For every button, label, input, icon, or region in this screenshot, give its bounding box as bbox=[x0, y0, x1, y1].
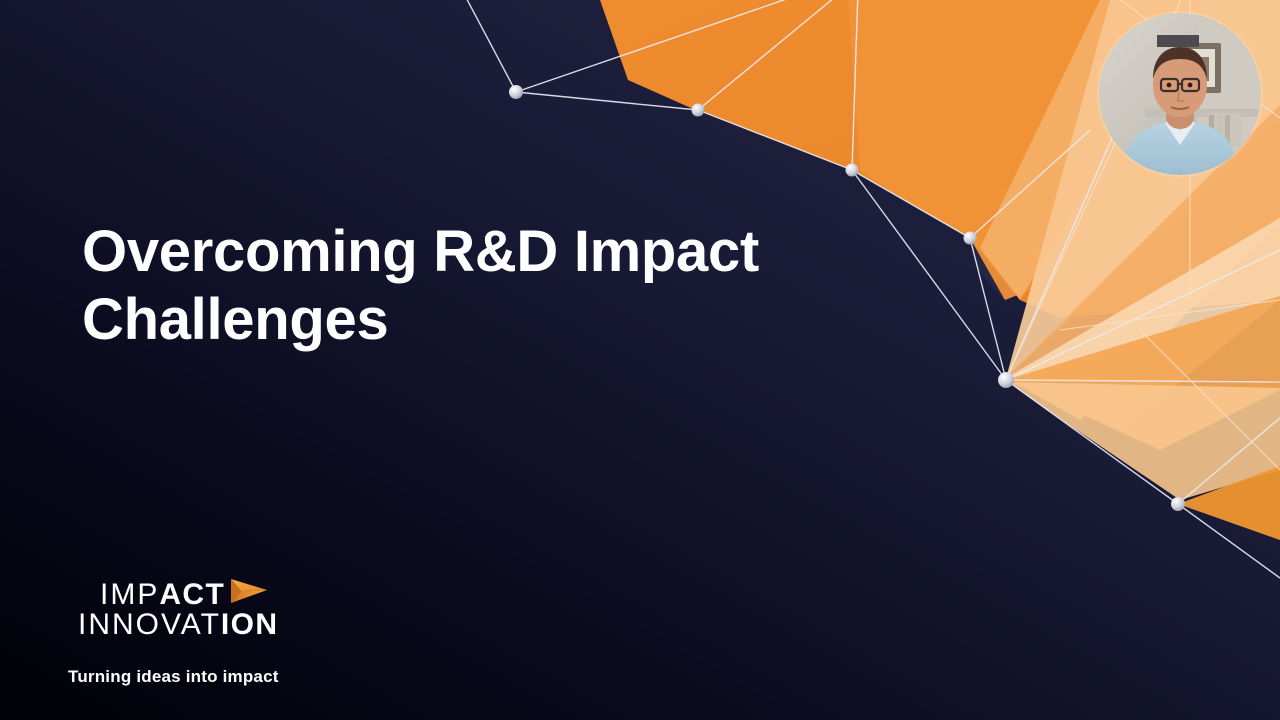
logo-line-1: IMPACT bbox=[68, 578, 428, 612]
title-line-1: Overcoming R&D Impact bbox=[82, 218, 882, 286]
network-node bbox=[998, 372, 1014, 388]
logo-innovation-text: INNOVATION bbox=[78, 608, 278, 641]
title-line-2: Challenges bbox=[82, 286, 882, 354]
webcam-dark-shelf-object bbox=[1157, 35, 1199, 47]
webcam-person-eye-left bbox=[1167, 83, 1172, 88]
webcam-shelf bbox=[1145, 109, 1261, 117]
logo-innovat-thin: INNOVAT bbox=[78, 608, 221, 641]
network-node bbox=[964, 232, 977, 245]
play-arrow-icon bbox=[229, 577, 269, 610]
webcam-person-eye-right bbox=[1188, 83, 1193, 88]
logo-ion-bold: ION bbox=[221, 608, 279, 641]
slide-title: Overcoming R&D Impact Challenges bbox=[82, 218, 882, 354]
logo-imp-thin: IMP bbox=[100, 578, 159, 611]
network-node bbox=[509, 85, 523, 99]
presenter-video-bubble[interactable] bbox=[1099, 13, 1261, 175]
company-logo: IMPACT bbox=[68, 578, 428, 642]
webcam-video-frame bbox=[1099, 13, 1261, 175]
network-node bbox=[1171, 497, 1185, 511]
presentation-slide: Overcoming R&D Impact Challenges IMPACT bbox=[0, 0, 1280, 720]
logo-act-bold: ACT bbox=[159, 578, 225, 611]
logo-tagline: Turning ideas into impact bbox=[68, 666, 279, 688]
logo-line-2: INNOVATION bbox=[68, 608, 428, 642]
network-node bbox=[692, 104, 705, 117]
network-node bbox=[846, 164, 859, 177]
logo-impact-text: IMPACT bbox=[100, 578, 225, 612]
